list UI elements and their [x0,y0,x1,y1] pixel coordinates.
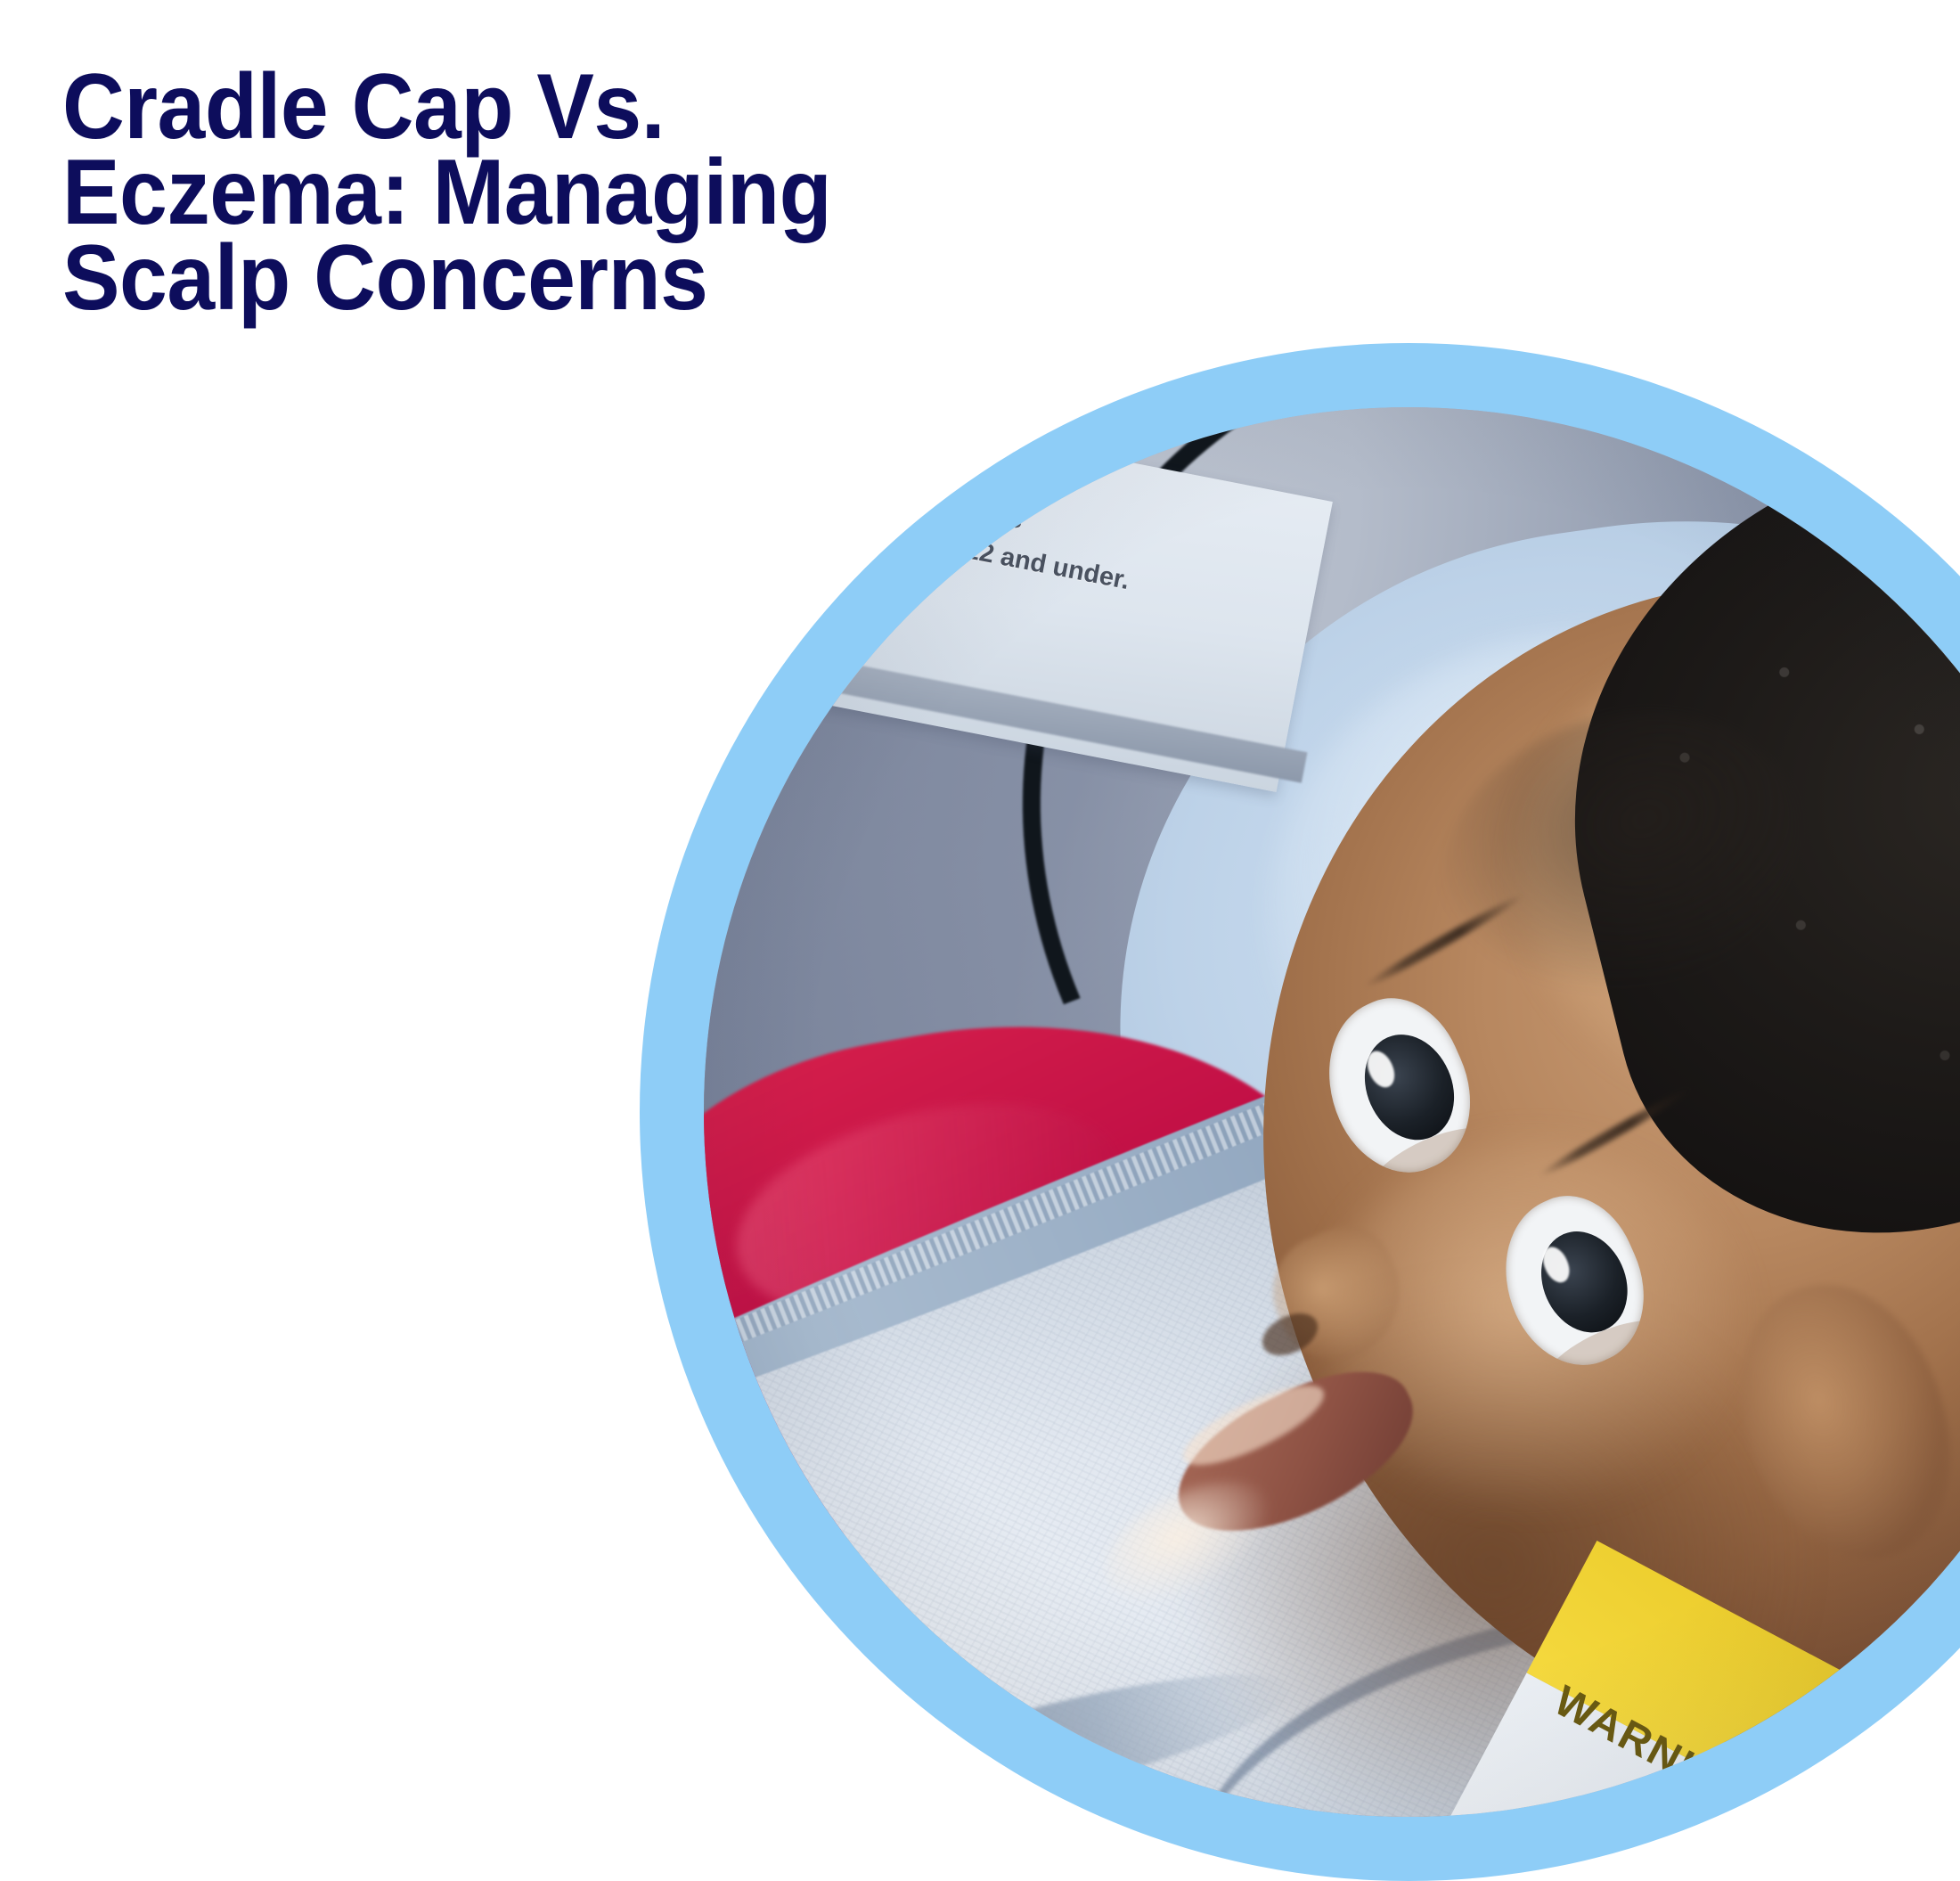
page-title: Cradle Cap Vs. Eczema: Managing Scalp Co… [62,64,1042,321]
photo-image: The back seat is for children 12 and und… [704,407,1960,1817]
hero-photo-circle: The back seat is for children 12 and und… [640,343,1960,1881]
page-title-line-3: Scalp Concerns [62,235,974,321]
page-title-line-2: Eczema: Managing [62,150,974,235]
page-title-line-1: Cradle Cap Vs. [62,64,974,150]
no-front-seat-icon [723,542,848,667]
photo-scene: The back seat is for children 12 and und… [704,407,1960,1817]
